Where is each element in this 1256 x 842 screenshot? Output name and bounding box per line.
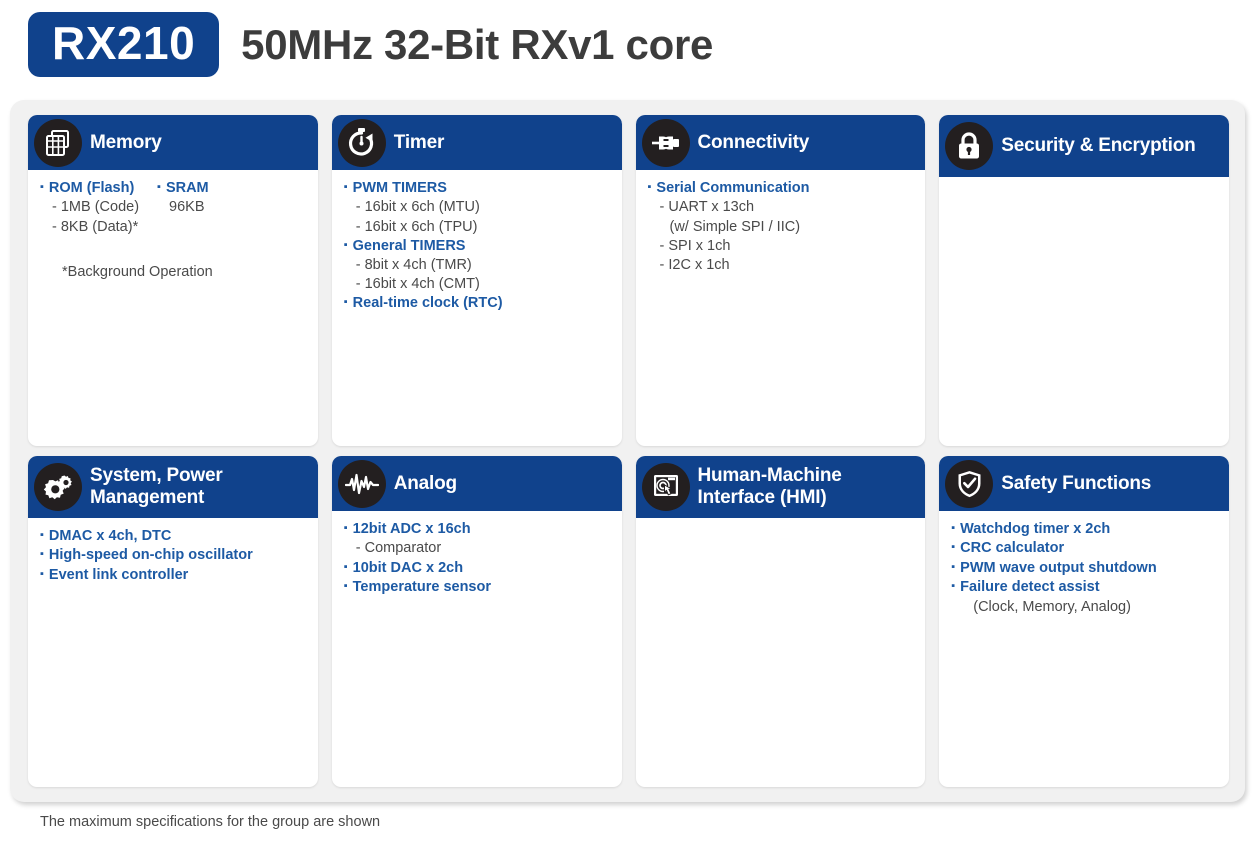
chip-name-badge: RX210 [28,12,219,77]
feature-card-safety-functions: Safety FunctionsWatchdog timer x 2chCRC … [939,456,1229,787]
feature-card-grid: MemoryROM (Flash)- 1MB (Code)- 8KB (Data… [28,115,1229,787]
spec-item: - 8KB (Data)* [40,218,139,237]
plug-connector-icon [642,119,690,167]
card-footnote: *Background Operation [40,263,308,282]
card-body-memory: ROM (Flash)- 1MB (Code)- 8KB (Data)*SRAM… [28,170,318,446]
spec-item: - 16bit x 4ch (CMT) [344,275,503,294]
card-body-connectivity: Serial Communication- UART x 13ch(w/ Sim… [636,170,926,446]
card-body-safety-functions: Watchdog timer x 2chCRC calculatorPWM wa… [939,511,1229,787]
spec-list: Watchdog timer x 2chCRC calculatorPWM wa… [951,520,1156,617]
spec-row: Serial Communication- UART x 13ch(w/ Sim… [648,179,916,275]
spec-list: ROM (Flash)- 1MB (Code)- 8KB (Data)* [40,179,139,237]
spec-list: Serial Communication- UART x 13ch(w/ Sim… [648,179,810,275]
waveform-icon [338,460,386,508]
card-header-safety-functions: Safety Functions [939,456,1229,511]
spec-item: General TIMERS [344,237,503,256]
page-header: RX210 50MHz 32-Bit RXv1 core [28,12,713,77]
spec-list: SRAM96KB [157,179,209,218]
spec-item: - SPI x 1ch [648,237,810,256]
feature-card-connectivity: ConnectivitySerial Communication- UART x… [636,115,926,446]
spec-item: - 8bit x 4ch (TMR) [344,256,503,275]
card-header-system-power-management: System, Power Management [28,456,318,518]
card-title-memory: Memory [90,132,162,154]
spec-row: 12bit ADC x 16ch- Comparator10bit DAC x … [344,520,612,597]
spec-item: (Clock, Memory, Analog) [951,598,1156,617]
card-header-human-machine-interface: Human-Machine Interface (HMI) [636,456,926,518]
stopwatch-icon [338,119,386,167]
spec-item: - 1MB (Code) [40,198,139,217]
spec-column: Watchdog timer x 2chCRC calculatorPWM wa… [951,520,1156,617]
spec-list: 12bit ADC x 16ch- Comparator10bit DAC x … [344,520,491,597]
card-body-analog: 12bit ADC x 16ch- Comparator10bit DAC x … [332,511,622,787]
spec-item: DMAC x 4ch, DTC [40,527,253,546]
spec-column: SRAM96KB [157,179,209,237]
card-header-security-encryption: Security & Encryption [939,115,1229,177]
memory-chip-icon [34,119,82,167]
card-header-analog: Analog [332,456,622,511]
spec-item: - 16bit x 6ch (MTU) [344,198,503,217]
spec-row: Watchdog timer x 2chCRC calculatorPWM wa… [951,520,1219,617]
spec-item: Failure detect assist [951,578,1156,597]
card-title-analog: Analog [394,473,457,495]
feature-overview-page: RX210 50MHz 32-Bit RXv1 core MemoryROM (… [0,0,1256,842]
card-title-connectivity: Connectivity [698,132,810,154]
feature-card-security-encryption: Security & Encryption [939,115,1229,446]
spec-item: 96KB [157,198,209,217]
spec-row: PWM TIMERS- 16bit x 6ch (MTU)- 16bit x 6… [344,179,612,314]
card-header-timer: Timer [332,115,622,170]
spec-item: - I2C x 1ch [648,256,810,275]
touchscreen-icon [642,463,690,511]
card-body-human-machine-interface [636,518,926,787]
spec-item: Watchdog timer x 2ch [951,520,1156,539]
page-title: 50MHz 32-Bit RXv1 core [241,24,713,66]
shield-check-icon [945,460,993,508]
spec-item: SRAM [157,179,209,198]
spec-item: ROM (Flash) [40,179,139,198]
card-title-timer: Timer [394,132,444,154]
spec-item: 10bit DAC x 2ch [344,559,491,578]
spec-item: Event link controller [40,566,253,585]
card-title-system-power-management: System, Power Management [90,465,310,509]
spec-item: Real-time clock (RTC) [344,294,503,313]
card-title-human-machine-interface: Human-Machine Interface (HMI) [698,465,918,509]
card-header-connectivity: Connectivity [636,115,926,170]
spec-item: High-speed on-chip oscillator [40,546,253,565]
feature-panel: MemoryROM (Flash)- 1MB (Code)- 8KB (Data… [10,100,1245,802]
footer-note: The maximum specifications for the group… [40,814,380,830]
spec-column: DMAC x 4ch, DTCHigh-speed on-chip oscill… [40,527,253,585]
card-title-security-encryption: Security & Encryption [1001,135,1195,157]
spec-item: PWM TIMERS [344,179,503,198]
gears-icon [34,463,82,511]
spec-column: 12bit ADC x 16ch- Comparator10bit DAC x … [344,520,491,597]
spec-item: Serial Communication [648,179,810,198]
spec-item: - UART x 13ch [648,198,810,217]
spec-item: 12bit ADC x 16ch [344,520,491,539]
spec-column: PWM TIMERS- 16bit x 6ch (MTU)- 16bit x 6… [344,179,503,314]
card-body-system-power-management: DMAC x 4ch, DTCHigh-speed on-chip oscill… [28,518,318,787]
spec-item: - Comparator [344,539,491,558]
spec-row: ROM (Flash)- 1MB (Code)- 8KB (Data)*SRAM… [40,179,308,237]
lock-icon [945,122,993,170]
spec-item: PWM wave output shutdown [951,559,1156,578]
spec-column: ROM (Flash)- 1MB (Code)- 8KB (Data)* [40,179,139,237]
spec-list: DMAC x 4ch, DTCHigh-speed on-chip oscill… [40,527,253,585]
feature-card-memory: MemoryROM (Flash)- 1MB (Code)- 8KB (Data… [28,115,318,446]
spec-row: DMAC x 4ch, DTCHigh-speed on-chip oscill… [40,527,308,585]
card-title-safety-functions: Safety Functions [1001,473,1151,495]
spec-item: Temperature sensor [344,578,491,597]
feature-card-human-machine-interface: Human-Machine Interface (HMI) [636,456,926,787]
spec-list: PWM TIMERS- 16bit x 6ch (MTU)- 16bit x 6… [344,179,503,314]
spec-item: (w/ Simple SPI / IIC) [648,218,810,237]
spec-column: Serial Communication- UART x 13ch(w/ Sim… [648,179,810,275]
feature-card-analog: Analog12bit ADC x 16ch- Comparator10bit … [332,456,622,787]
card-body-timer: PWM TIMERS- 16bit x 6ch (MTU)- 16bit x 6… [332,170,622,446]
feature-card-timer: TimerPWM TIMERS- 16bit x 6ch (MTU)- 16bi… [332,115,622,446]
card-header-memory: Memory [28,115,318,170]
feature-card-system-power-management: System, Power ManagementDMAC x 4ch, DTCH… [28,456,318,787]
spec-item: CRC calculator [951,539,1156,558]
spec-item: - 16bit x 6ch (TPU) [344,218,503,237]
card-body-security-encryption [939,177,1229,446]
